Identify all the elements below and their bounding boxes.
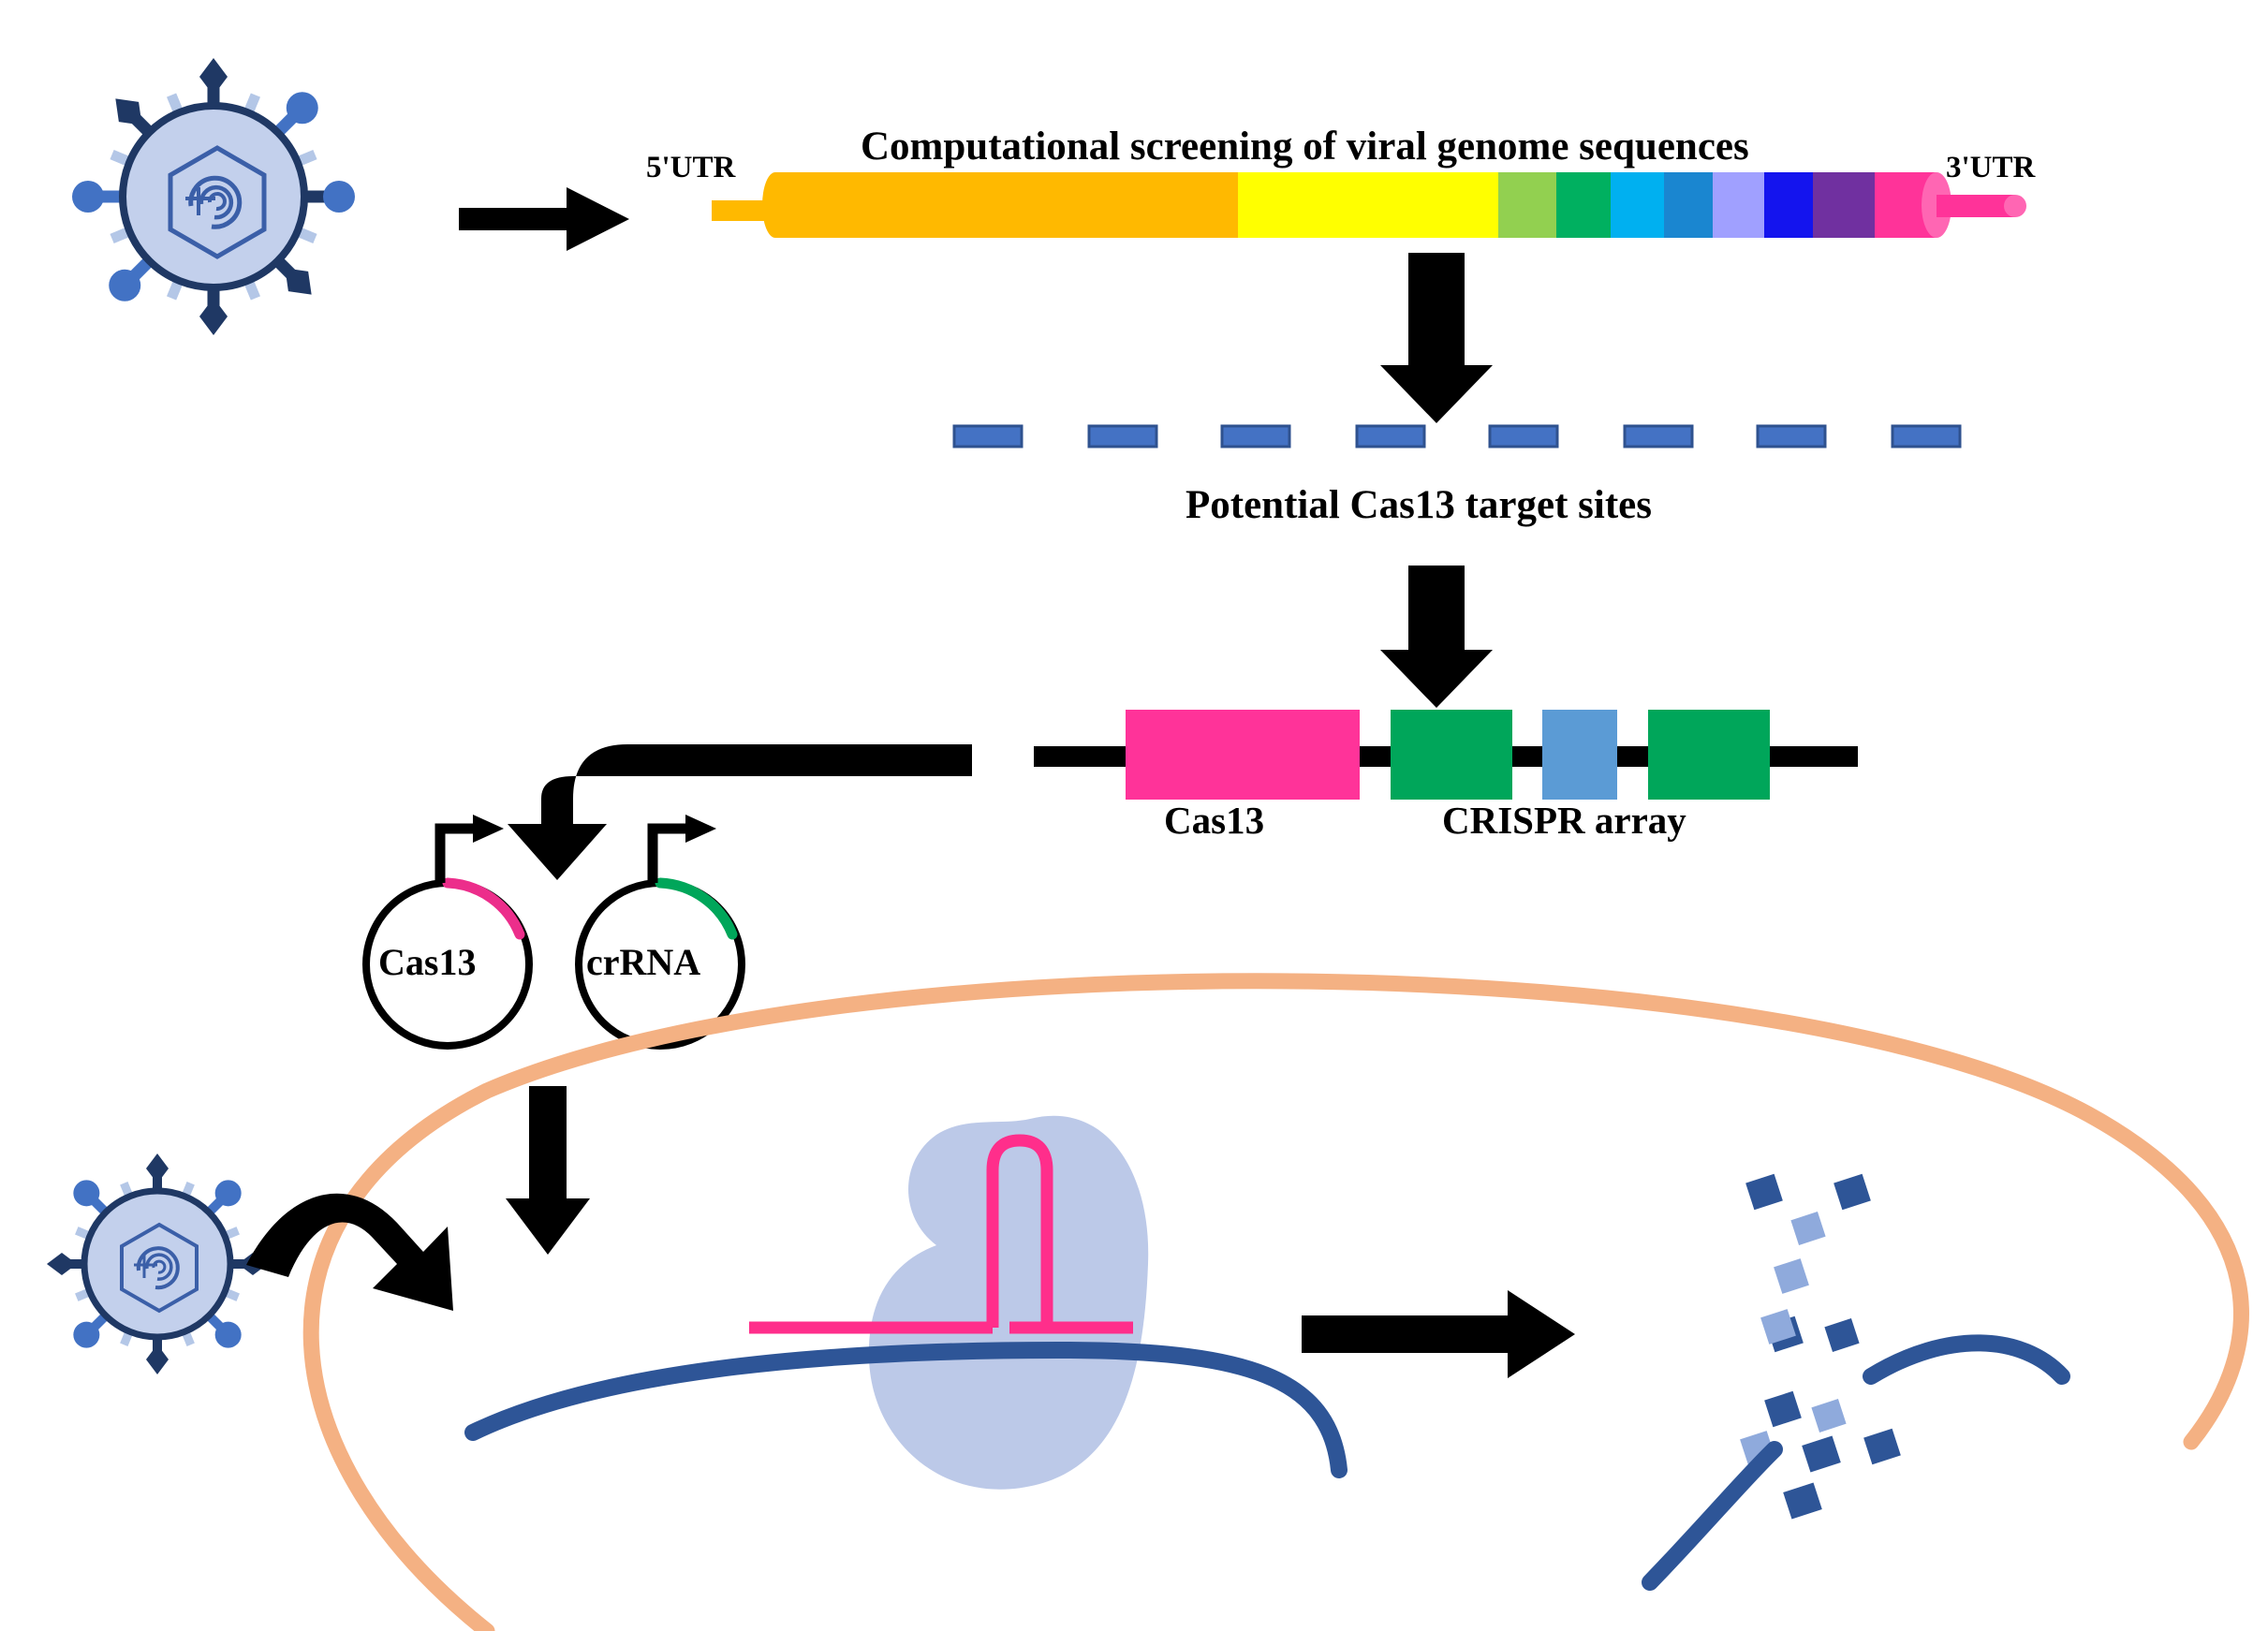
promoter-arrow-icon — [653, 815, 716, 883]
cell-membrane — [311, 981, 2241, 1631]
spacer-block — [1542, 710, 1617, 800]
target-dash — [1089, 426, 1156, 447]
arrow-down-into-cell — [506, 1086, 590, 1255]
arrow-down-to-targets — [1380, 253, 1493, 423]
arrow-cleavage — [1302, 1290, 1575, 1378]
cas13-block — [1126, 710, 1360, 800]
promoter-arrow-icon — [440, 815, 504, 883]
segment-orf8 — [1813, 172, 1875, 238]
segment-orf7 — [1764, 172, 1813, 238]
plasmid-cas13-label: Cas13 — [378, 944, 476, 981]
repeat-block-1 — [1391, 710, 1512, 800]
crispr-construct — [1034, 710, 1858, 800]
utr5-label: 5'UTR — [646, 153, 735, 184]
plasmid-cas13 — [366, 815, 529, 1046]
arrow-elbow-to-plasmids — [508, 744, 972, 880]
diagram-svg — [0, 0, 2268, 1631]
target-dash — [1222, 426, 1289, 447]
utr3-label: 3'UTR — [1946, 153, 2035, 184]
target-site-dashes — [954, 426, 1960, 447]
crispr-array-label: CRISPR array — [1442, 801, 1686, 840]
target-dash — [1892, 426, 1960, 447]
virus-particle-infecting — [47, 1153, 268, 1374]
segment-orf6 — [1713, 172, 1764, 238]
target-dash — [954, 426, 1022, 447]
genome-title: Computational screening of viral genome … — [861, 126, 1749, 167]
target-dash — [1625, 426, 1692, 447]
segment-envelope — [1611, 172, 1664, 238]
genome-bar — [712, 172, 2026, 238]
target-dash — [1758, 426, 1825, 447]
segment-orf3a — [1556, 172, 1611, 238]
cleaved-rna-fragments — [1650, 1174, 2062, 1582]
cas13-block-label: Cas13 — [1164, 801, 1264, 840]
target-sites-label: Potential Cas13 target sites — [1186, 485, 1652, 525]
plasmid-crrna — [579, 815, 742, 1046]
cas13-protein — [869, 1116, 1148, 1490]
genome-segments — [775, 172, 1937, 238]
repeat-block-2 — [1648, 710, 1770, 800]
segment-membrane — [1664, 172, 1713, 238]
virus-particle — [72, 58, 355, 335]
arrow-virus-entry — [246, 1194, 453, 1311]
arrow-down-to-construct — [1380, 566, 1493, 708]
utr3-tail — [1937, 195, 2015, 217]
segment-spike — [1498, 172, 1556, 238]
figure-canvas: Computational screening of viral genome … — [0, 0, 2268, 1631]
segment-orf1b — [1238, 172, 1498, 238]
target-dash — [1357, 426, 1424, 447]
segment-orf1a — [775, 172, 1238, 238]
arrow-virus-to-genome — [459, 187, 629, 251]
target-dash — [1490, 426, 1557, 447]
plasmid-crrna-label: crRNA — [586, 944, 700, 981]
